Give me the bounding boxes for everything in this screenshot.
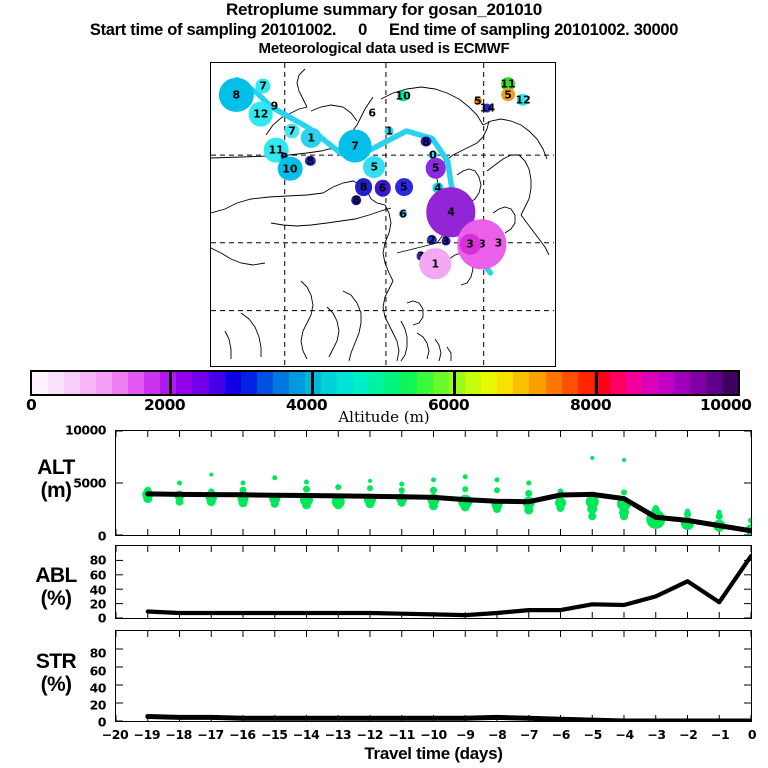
alt-scatter-dot — [176, 498, 184, 506]
plume-blob-label-12: 1 — [386, 125, 394, 136]
colorbar-swatch-1 — [48, 372, 64, 394]
plume-blob-label-24: 2 — [428, 234, 436, 245]
colorbar-title: Altitude (m) — [0, 408, 768, 426]
met-data-line: Meteorological data used is ECMWF — [0, 40, 768, 58]
abl-line — [148, 556, 751, 615]
plume-blob-label-36: 14 — [480, 102, 495, 113]
str-ytick-0: 0 — [22, 715, 106, 730]
colorbar-swatch-22 — [385, 372, 401, 394]
x-axis-tick-1: −19 — [134, 727, 160, 742]
alt-scatter-dot — [431, 477, 436, 482]
alt-scatter-dot — [303, 486, 310, 493]
plume-blob-label-17: 5 — [400, 181, 408, 192]
alt-scatter-dot — [590, 456, 594, 460]
alt-scatter-dot — [368, 479, 372, 483]
colorbar-swatch-3 — [80, 372, 96, 394]
plume-blob-label-13: 5 — [370, 162, 378, 173]
alt-scatter-dot — [462, 486, 468, 492]
x-axis-tick-0: −20 — [102, 727, 128, 742]
x-axis-tick-16: −4 — [616, 727, 634, 742]
colorbar-swatch-16 — [289, 372, 305, 394]
start-time-value: 0 — [358, 21, 367, 39]
retroplume-map[interactable]: 8712917119108761588658054462332133311512… — [210, 62, 556, 367]
alt-scatter-dot — [557, 504, 565, 512]
sampling-time-line: Start time of sampling 20101002.0End tim… — [0, 20, 768, 40]
colorbar-swatch-29 — [497, 372, 513, 394]
x-axis-tick-10: −10 — [420, 727, 446, 742]
alt-scatter-dot — [209, 473, 213, 477]
plume-blob-label-37: 10 — [395, 91, 410, 102]
colorbar-swatch-6 — [128, 372, 144, 394]
plume-blob-label-10: 7 — [351, 141, 359, 152]
x-axis-tick-15: −5 — [584, 727, 602, 742]
plume-blob-label-0: 8 — [233, 89, 241, 100]
str-line — [148, 717, 751, 722]
alt-scatter-dot — [685, 509, 690, 514]
plume-blob-label-31: 3 — [495, 237, 503, 248]
colorbar-swatch-14 — [257, 372, 273, 394]
x-axis-tick-6: −14 — [293, 727, 319, 742]
alt-scatter-dot — [271, 500, 279, 508]
plume-blob-label-34: 12 — [515, 94, 530, 105]
abl-ytick-80: 80 — [22, 553, 106, 568]
x-axis-tick-8: −12 — [357, 727, 383, 742]
alt-ytick-0: 0 — [22, 529, 106, 544]
alt-scatter-dot — [399, 482, 404, 487]
colorbar-swatch-41 — [690, 372, 706, 394]
x-axis-tick-14: −6 — [552, 727, 570, 742]
alt-scatter-dot — [463, 474, 468, 479]
colorbar-swatch-26 — [449, 372, 465, 394]
colorbar-swatch-39 — [658, 372, 674, 394]
x-axis-tick-4: −16 — [229, 727, 255, 742]
colorbar-swatch-15 — [273, 372, 289, 394]
plume-blob-label-14: 8 — [360, 181, 368, 192]
plume-blob-label-8: 10 — [282, 163, 297, 174]
plume-blob-label-28: 1 — [431, 258, 439, 269]
start-time-label: Start time of sampling 20101002. — [90, 21, 336, 39]
alt-scatter-dot — [461, 502, 470, 511]
end-time-label: End time of sampling 20101002. 30000 — [389, 21, 678, 39]
colorbar-swatch-9 — [176, 372, 192, 394]
x-axis-title: Travel time (days) — [115, 744, 752, 764]
alt-scatter-dot — [622, 458, 626, 462]
colorbar-gradient — [30, 370, 740, 396]
alt-ytick-5000: 5000 — [22, 476, 106, 491]
colorbar-swatch-21 — [369, 372, 385, 394]
colorbar-swatch-38 — [642, 372, 658, 394]
abl-panel[interactable] — [115, 545, 752, 619]
colorbar-swatch-42 — [706, 372, 722, 394]
x-axis-tick-7: −13 — [325, 727, 351, 742]
colorbar-swatch-36 — [610, 372, 626, 394]
alt-scatter-dot — [398, 499, 406, 507]
x-axis-tick-9: −11 — [388, 727, 414, 742]
alt-scatter-dot — [272, 475, 277, 480]
colorbar-swatch-33 — [562, 372, 578, 394]
colorbar-swatch-0 — [32, 372, 48, 394]
plume-blob-label-3: 9 — [271, 100, 279, 111]
str-ytick-60: 60 — [22, 664, 106, 679]
colorbar-sep-8000 — [595, 370, 598, 396]
colorbar-sep-6000 — [453, 370, 456, 396]
colorbar-swatch-5 — [112, 372, 128, 394]
colorbar-swatch-20 — [353, 372, 369, 394]
alt-scatter-dot — [620, 512, 628, 520]
colorbar-swatch-25 — [433, 372, 449, 394]
x-axis-tick-18: −2 — [679, 727, 697, 742]
alt-scatter-dot — [526, 481, 531, 486]
colorbar-swatch-40 — [674, 372, 690, 394]
alt-scatter-dot — [399, 487, 405, 493]
plume-blob-label-30: 3 — [466, 239, 474, 250]
alt-scatter-dot — [494, 487, 500, 493]
str-ytick-20: 20 — [22, 698, 106, 713]
alt-scatter-dot — [748, 517, 751, 523]
header-block: Retroplume summary for gosan_201010 Star… — [0, 0, 768, 58]
colorbar-swatch-10 — [192, 372, 208, 394]
colorbar-swatch-30 — [513, 372, 529, 394]
alt-scatter-dot — [525, 490, 532, 497]
colorbar-swatch-37 — [626, 372, 642, 394]
colorbar-swatch-23 — [401, 372, 417, 394]
colorbar-sep-2000 — [169, 370, 172, 396]
x-axis-tick-17: −3 — [647, 727, 665, 742]
plume-blob-label-2: 12 — [253, 109, 268, 120]
colorbar-swatch-4 — [96, 372, 112, 394]
x-axis-tick-12: −8 — [488, 727, 506, 742]
str-panel[interactable] — [115, 630, 752, 722]
alt-scatter-dot — [335, 484, 341, 490]
colorbar-swatch-27 — [465, 372, 481, 394]
alt-scatter-dot — [367, 485, 373, 491]
alt-scatter-dot — [241, 481, 246, 486]
altitude-colorbar[interactable] — [30, 370, 740, 396]
plume-blob-label-22: 4 — [447, 207, 455, 218]
colorbar-swatch-7 — [144, 372, 160, 394]
alt-scatter-dot — [429, 501, 438, 510]
alt-scatter-dot — [239, 498, 248, 507]
plume-blob-label-11: 6 — [368, 107, 376, 118]
colorbar-swatch-28 — [481, 372, 497, 394]
plume-blob-label-1: 7 — [259, 80, 267, 91]
plume-blob-label-16: 6 — [379, 183, 387, 194]
colorbar-swatch-18 — [321, 372, 337, 394]
colorbar-swatch-11 — [209, 372, 225, 394]
plume-blob-label-25: 3 — [442, 236, 450, 247]
abl-ytick-0: 0 — [22, 611, 106, 626]
alt-scatter-dot — [207, 497, 216, 506]
alt-panel[interactable] — [115, 430, 752, 536]
plume-blob-label-33: 5 — [504, 89, 512, 100]
str-ytick-40: 40 — [22, 681, 106, 696]
x-axis-tick-20: 0 — [748, 727, 756, 742]
alt-scatter-dot — [304, 479, 309, 484]
colorbar-swatch-12 — [225, 372, 241, 394]
alt-scatter-dot — [302, 500, 311, 509]
page-title: Retroplume summary for gosan_201010 — [0, 0, 768, 20]
colorbar-swatch-34 — [578, 372, 594, 394]
plume-blob-label-5: 7 — [288, 125, 296, 136]
alt-scatter-dot — [588, 512, 596, 520]
x-axis-tick-2: −18 — [166, 727, 192, 742]
alt-scatter-dot — [177, 481, 182, 486]
colorbar-sep-4000 — [311, 370, 314, 396]
plume-blob-label-4: 1 — [307, 132, 315, 143]
str-ytick-80: 80 — [22, 646, 106, 661]
abl-ytick-40: 40 — [22, 583, 106, 598]
alt-scatter-dot — [495, 477, 500, 482]
x-axis-tick-5: −15 — [261, 727, 287, 742]
colorbar-swatch-32 — [546, 372, 562, 394]
plume-blob-label-18: 8 — [422, 136, 430, 147]
alt-scatter-dot — [493, 505, 501, 513]
alt-scatter-dot — [621, 489, 627, 495]
plume-blob-label-15: 8 — [353, 195, 361, 206]
colorbar-swatch-13 — [241, 372, 257, 394]
alt-scatter-dot — [430, 487, 437, 494]
x-axis-tick-19: −1 — [711, 727, 729, 742]
alt-scatter-dot — [717, 510, 722, 515]
colorbar-swatch-2 — [64, 372, 80, 394]
alt-ytick-10000: 10000 — [22, 423, 106, 438]
plume-blob-label-23: 6 — [399, 209, 407, 220]
colorbar-swatch-24 — [417, 372, 433, 394]
colorbar-swatch-19 — [337, 372, 353, 394]
plume-blob-label-9: 8 — [307, 156, 315, 167]
plume-blob-label-20: 5 — [432, 163, 440, 174]
alt-scatter-dot — [366, 499, 375, 508]
x-axis-tick-11: −9 — [456, 727, 474, 742]
abl-ytick-20: 20 — [22, 597, 106, 612]
x-axis-tick-3: −17 — [197, 727, 223, 742]
abl-ytick-60: 60 — [22, 568, 106, 583]
colorbar-swatch-31 — [529, 372, 545, 394]
colorbar-swatch-43 — [722, 372, 738, 394]
alt-scatter-dot — [334, 500, 343, 509]
alt-scatter-dot — [653, 505, 659, 511]
alt-scatter-dot — [524, 506, 533, 515]
x-axis-tick-13: −7 — [520, 727, 538, 742]
